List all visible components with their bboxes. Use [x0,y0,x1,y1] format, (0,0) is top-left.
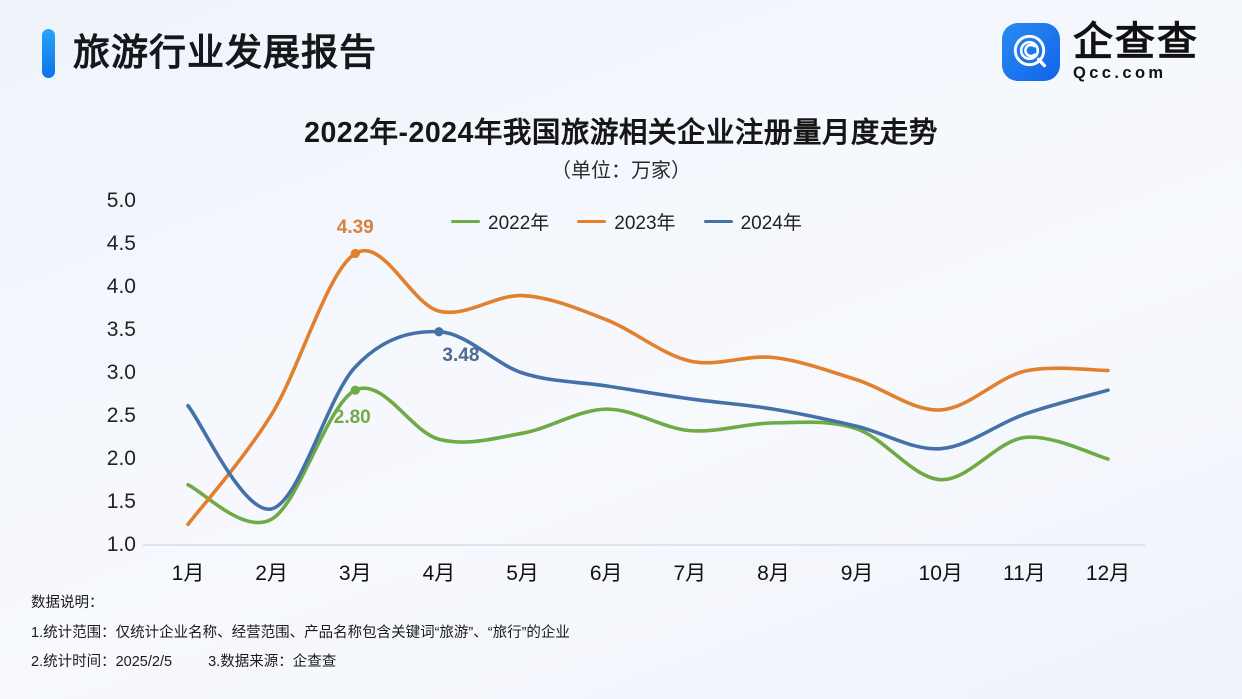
legend-swatch-2023 [577,220,606,223]
footer-note-source: 3.数据来源：企查查 [208,654,336,670]
footer-note-scope: 1.统计范围：仅统计企业名称、经营范围、产品名称包含关键词“旅游”、“旅行”的企… [31,626,570,641]
x-tick-7月: 7月 [673,557,706,587]
x-tick-4月: 4月 [423,557,456,587]
brand-name-en: Qcc.com [1073,65,1199,82]
y-tick-1.5: 1.5 [78,490,136,514]
data-point-marker-4.39 [351,249,360,258]
footer-note-time: 2.统计时间：2025/2/5 [31,654,172,670]
y-tick-2.5: 2.5 [78,404,136,428]
page-header: 旅游行业发展报告 企查查 Qcc.com [0,0,1242,104]
x-tick-11月: 11月 [1003,557,1046,587]
x-tick-9月: 9月 [841,557,874,587]
brand-wordmark: 企查查 Qcc.com [1073,22,1199,82]
report-page: 旅游行业发展报告 企查查 Qcc.com 2022年-2024年我国旅游相关企业… [0,0,1242,699]
chart-plot-area [0,0,1242,699]
legend-label-2024: 2024年 [741,208,802,235]
y-tick-4.5: 4.5 [78,232,136,256]
y-tick-3.5: 3.5 [78,318,136,342]
series-line-2022年 [188,388,1108,522]
y-tick-2.0: 2.0 [78,447,136,471]
point-label-3.48: 3.48 [442,345,479,367]
legend-label-2022: 2022年 [488,208,549,235]
footer-note-meta: 2.统计时间：2025/2/5 3.数据来源：企查查 [31,655,570,670]
chart-title: 2022年-2024年我国旅游相关企业注册量月度走势 [0,110,1242,151]
series-line-2023年 [188,251,1108,525]
y-tick-3.0: 3.0 [78,361,136,385]
point-label-4.39: 4.39 [337,217,374,239]
x-tick-2月: 2月 [255,557,288,587]
x-tick-3月: 3月 [339,557,372,587]
page-title: 旅游行业发展报告 [73,24,377,82]
y-tick-5.0: 5.0 [78,189,136,213]
legend-label-2023: 2023年 [614,208,675,235]
x-tick-10月: 10月 [919,557,963,587]
footer-heading: 数据说明： [31,596,570,611]
legend-item-2023[interactable]: 2023年 [577,208,675,235]
data-point-marker-3.48 [434,327,443,336]
y-tick-4.0: 4.0 [78,275,136,299]
x-tick-8月: 8月 [757,557,790,587]
legend-item-2024[interactable]: 2024年 [704,208,802,235]
series-line-2024年 [188,332,1108,510]
data-point-marker-2.80 [351,386,360,395]
legend-swatch-2024 [704,220,733,223]
footer-notes: 数据说明： 1.统计范围：仅统计企业名称、经营范围、产品名称包含关键词“旅游”、… [31,596,570,670]
point-label-2.80: 2.80 [334,407,371,429]
x-tick-6月: 6月 [590,557,623,587]
legend-item-2022[interactable]: 2022年 [451,208,549,235]
chart-subtitle: （单位：万家） [0,154,1242,183]
x-tick-5月: 5月 [506,557,539,587]
chart-legend: 2022年 2023年 2024年 [451,208,802,235]
qcc-logo-icon [1002,23,1060,81]
x-tick-1月: 1月 [172,557,205,587]
x-tick-12月: 12月 [1086,557,1130,587]
y-tick-1.0: 1.0 [78,533,136,557]
brand-name-cn: 企查查 [1073,22,1199,62]
brand-logo: 企查查 Qcc.com [1002,23,1199,81]
title-accent-bar [42,29,55,78]
legend-swatch-2022 [451,220,480,223]
